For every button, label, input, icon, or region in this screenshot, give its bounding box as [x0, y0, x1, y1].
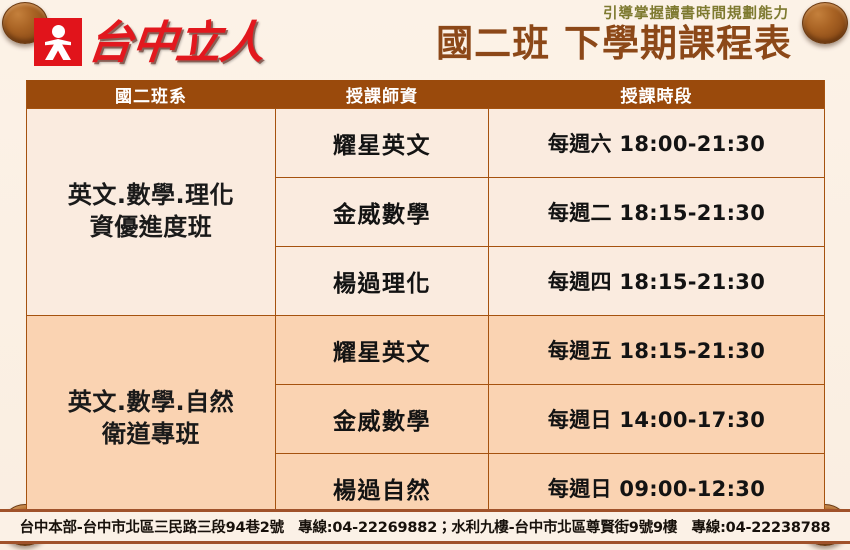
teacher-cell: 楊過理化 — [276, 247, 489, 316]
footer-contact-text: 台中本部-台中市北區三民路三段94巷2號 專線:04-22269882；水利九樓… — [20, 516, 831, 537]
teacher-cell: 金威數學 — [276, 178, 489, 247]
class-group-line: 資優進度班 — [27, 212, 275, 244]
teacher-cell: 金威數學 — [276, 385, 489, 454]
header: 台中立人 引導掌握讀書時間規劃能力 國二班 下學期課程表 — [0, 0, 850, 80]
table-row: 英文.數學.自然衛道專班耀星英文每週五 18:15-21:30 — [27, 316, 825, 385]
schedule-table: 國二班系 授課師資 授課時段 英文.數學.理化資優進度班耀星英文每週六 18:0… — [26, 80, 825, 523]
column-header-time: 授課時段 — [489, 81, 825, 109]
time-cell: 每週六 18:00-21:30 — [489, 109, 825, 178]
table-header: 國二班系 授課師資 授課時段 — [27, 81, 825, 109]
person-mark-icon — [34, 18, 82, 66]
brand-logo: 台中立人 — [34, 18, 264, 66]
column-header-teacher: 授課師資 — [276, 81, 489, 109]
footer-bar: 台中本部-台中市北區三民路三段94巷2號 專線:04-22269882；水利九樓… — [0, 509, 850, 544]
table-row: 英文.數學.理化資優進度班耀星英文每週六 18:00-21:30 — [27, 109, 825, 178]
time-cell: 每週五 18:15-21:30 — [489, 316, 825, 385]
time-cell: 每週日 14:00-17:30 — [489, 385, 825, 454]
teacher-cell: 耀星英文 — [276, 109, 489, 178]
table-body: 英文.數學.理化資優進度班耀星英文每週六 18:00-21:30金威數學每週二 … — [27, 109, 825, 523]
class-group-line: 英文.數學.自然 — [27, 387, 275, 419]
class-group-cell: 英文.數學.理化資優進度班 — [27, 109, 276, 316]
time-cell: 每週二 18:15-21:30 — [489, 178, 825, 247]
column-header-class: 國二班系 — [27, 81, 276, 109]
poster-root: 台中立人 引導掌握讀書時間規劃能力 國二班 下學期課程表 國二班系 授課師資 授… — [0, 0, 850, 550]
class-group-line: 英文.數學.理化 — [27, 180, 275, 212]
page-title: 國二班 下學期課程表 — [436, 24, 792, 64]
teacher-cell: 耀星英文 — [276, 316, 489, 385]
brand-name: 台中立人 — [86, 20, 267, 65]
time-cell: 每週四 18:15-21:30 — [489, 247, 825, 316]
class-group-line: 衛道專班 — [27, 419, 275, 451]
title-block: 引導掌握讀書時間規劃能力 國二班 下學期課程表 — [436, 6, 792, 64]
table-header-row: 國二班系 授課師資 授課時段 — [27, 81, 825, 109]
class-group-cell: 英文.數學.自然衛道專班 — [27, 316, 276, 523]
person-head-shape — [52, 25, 65, 38]
poster-subtitle: 引導掌握讀書時間規劃能力 — [436, 6, 789, 23]
person-body-shape — [45, 39, 71, 60]
